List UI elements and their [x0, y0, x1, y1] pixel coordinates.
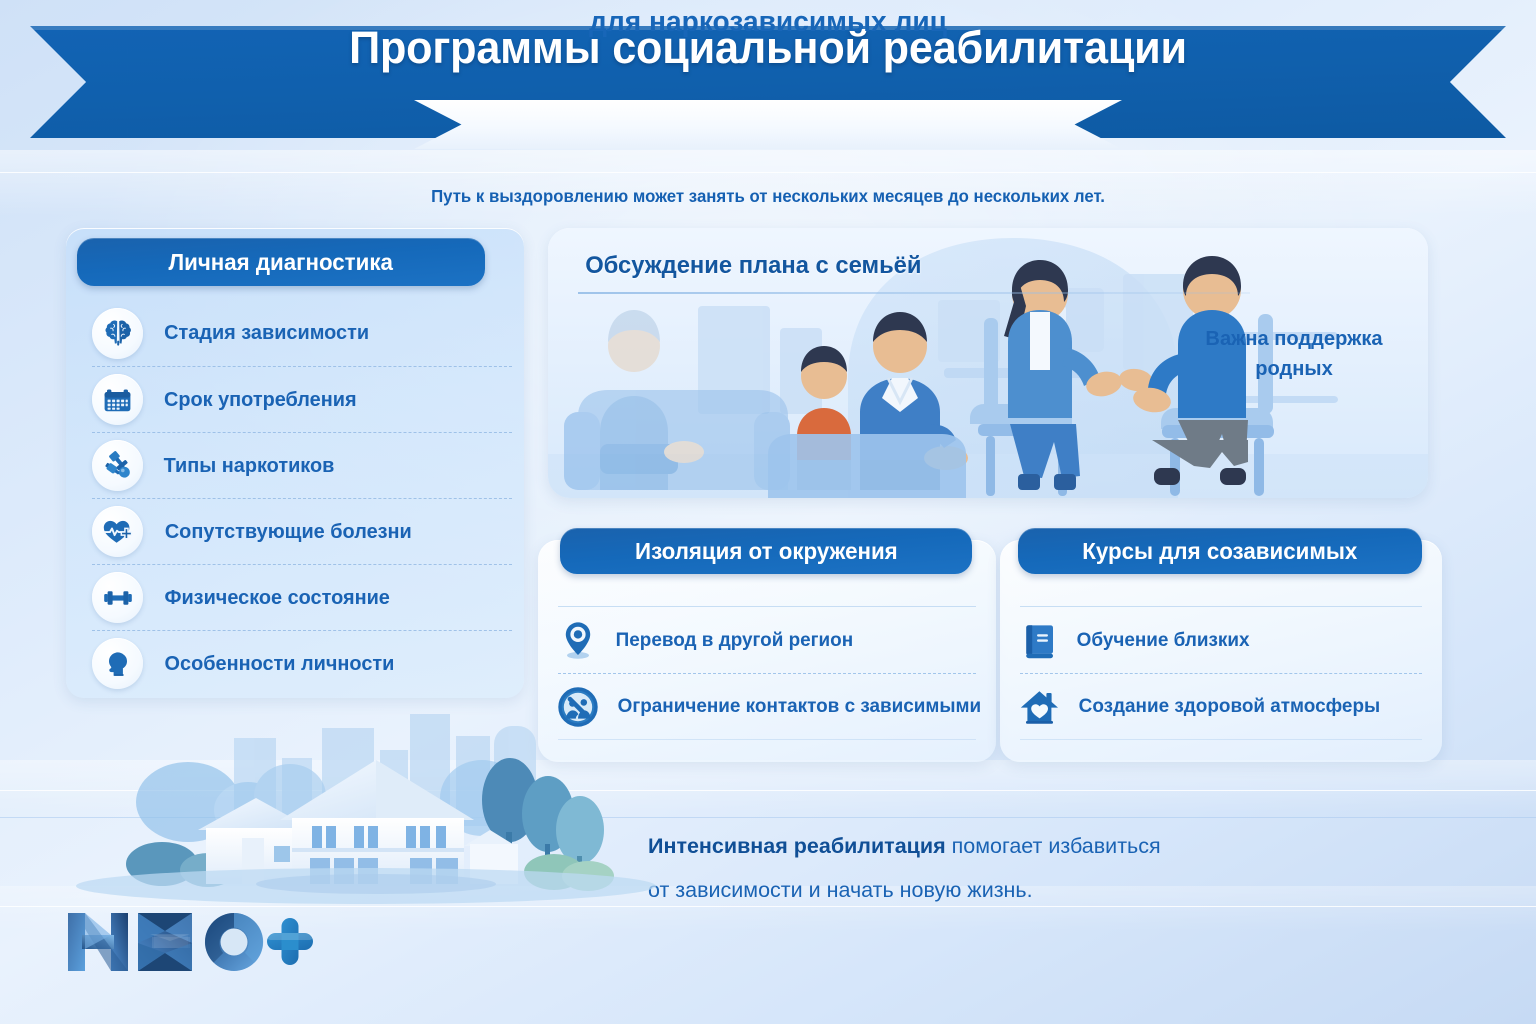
diagnostics-badge: Личная диагностика	[77, 238, 485, 286]
list-item-label: Ограничение контактов с зависимыми	[618, 695, 982, 718]
list-item[interactable]: Создание здоровой атмосферы	[1020, 673, 1422, 740]
head-profile-icon	[92, 638, 143, 689]
codependent-badge: Курсы для созависимых	[1018, 528, 1422, 574]
family-support-note: Важна поддержка родных	[1188, 324, 1400, 383]
list-item-label: Срок употребления	[164, 388, 357, 412]
isolation-badge: Изоляция от окружения	[560, 528, 972, 574]
codependent-badge-label: Курсы для созависимых	[1082, 538, 1357, 565]
house-heart-icon	[1020, 687, 1060, 727]
list-item[interactable]: Перевод в другой регион	[558, 606, 976, 673]
list-item[interactable]: Сопутствующие болезни	[92, 498, 512, 564]
list-item-label: Перевод в другой регион	[616, 629, 853, 652]
codependent-list: Обучение близких Создание здоровой атмос…	[1000, 606, 1442, 740]
list-item[interactable]: Срок употребления	[92, 366, 512, 432]
list-item-label: Физическое состояние	[164, 586, 389, 610]
family-discussion-card: Обсуждение плана с семьёй Важна поддержк…	[548, 228, 1428, 498]
footer-rest: помогает избавиться	[946, 834, 1161, 858]
list-item[interactable]: Обучение близких	[1020, 606, 1422, 673]
heart-plus-icon	[92, 506, 143, 557]
footer-lead: Интенсивная реабилитация	[648, 834, 946, 858]
logo-letter-plus	[267, 918, 313, 965]
syringe-icon	[92, 440, 143, 491]
intro-statement: Путь к выздоровлению может занять от нес…	[31, 186, 1506, 207]
map-pin-icon	[558, 620, 598, 660]
diagnostics-badge-label: Личная диагностика	[169, 249, 393, 276]
footer-line-1: Интенсивная реабилитация помогает избави…	[648, 824, 1388, 868]
list-item-label: Особенности личности	[165, 652, 395, 676]
isolation-badge-label: Изоляция от окружения	[635, 538, 898, 565]
suburban-house-illustration	[76, 706, 656, 912]
title-underline	[578, 292, 1250, 294]
list-item-label: Стадия зависимости	[164, 321, 369, 345]
diagnostics-list: Стадия зависимости	[92, 300, 512, 696]
logo-letter-o	[205, 913, 263, 971]
logo-letter-n	[68, 913, 128, 971]
logo-letter-e	[138, 913, 192, 971]
background-divider-line	[0, 172, 1536, 173]
subtitle-ribbon	[414, 100, 1122, 149]
family-card-title: Обсуждение плана с семьёй	[585, 252, 921, 280]
list-item-label: Типы наркотиков	[164, 454, 335, 478]
footer-statement: Интенсивная реабилитация помогает избави…	[648, 824, 1388, 913]
list-item-label: Сопутствующие болезни	[165, 520, 412, 544]
brand-logo-neo-plus	[64, 903, 316, 981]
list-item[interactable]: Физическое состояние	[92, 564, 512, 630]
infographic-poster: Программы социальной реабилитации для на…	[0, 0, 1536, 1024]
list-item-label: Создание здоровой атмосферы	[1079, 695, 1380, 718]
dumbbell-icon	[92, 572, 143, 623]
calendar-icon	[92, 374, 143, 425]
page-subtitle: для наркозависимых лиц	[23, 6, 1513, 39]
footer-line-2: от зависимости и начать новую жизнь.	[648, 868, 1388, 912]
list-item[interactable]: Особенности личности	[92, 630, 512, 696]
list-item-label: Обучение близких	[1077, 629, 1250, 652]
list-item[interactable]: Типы наркотиков	[92, 432, 512, 498]
book-icon	[1020, 620, 1060, 660]
list-item[interactable]: Стадия зависимости	[92, 300, 512, 366]
brain-icon	[92, 308, 143, 359]
